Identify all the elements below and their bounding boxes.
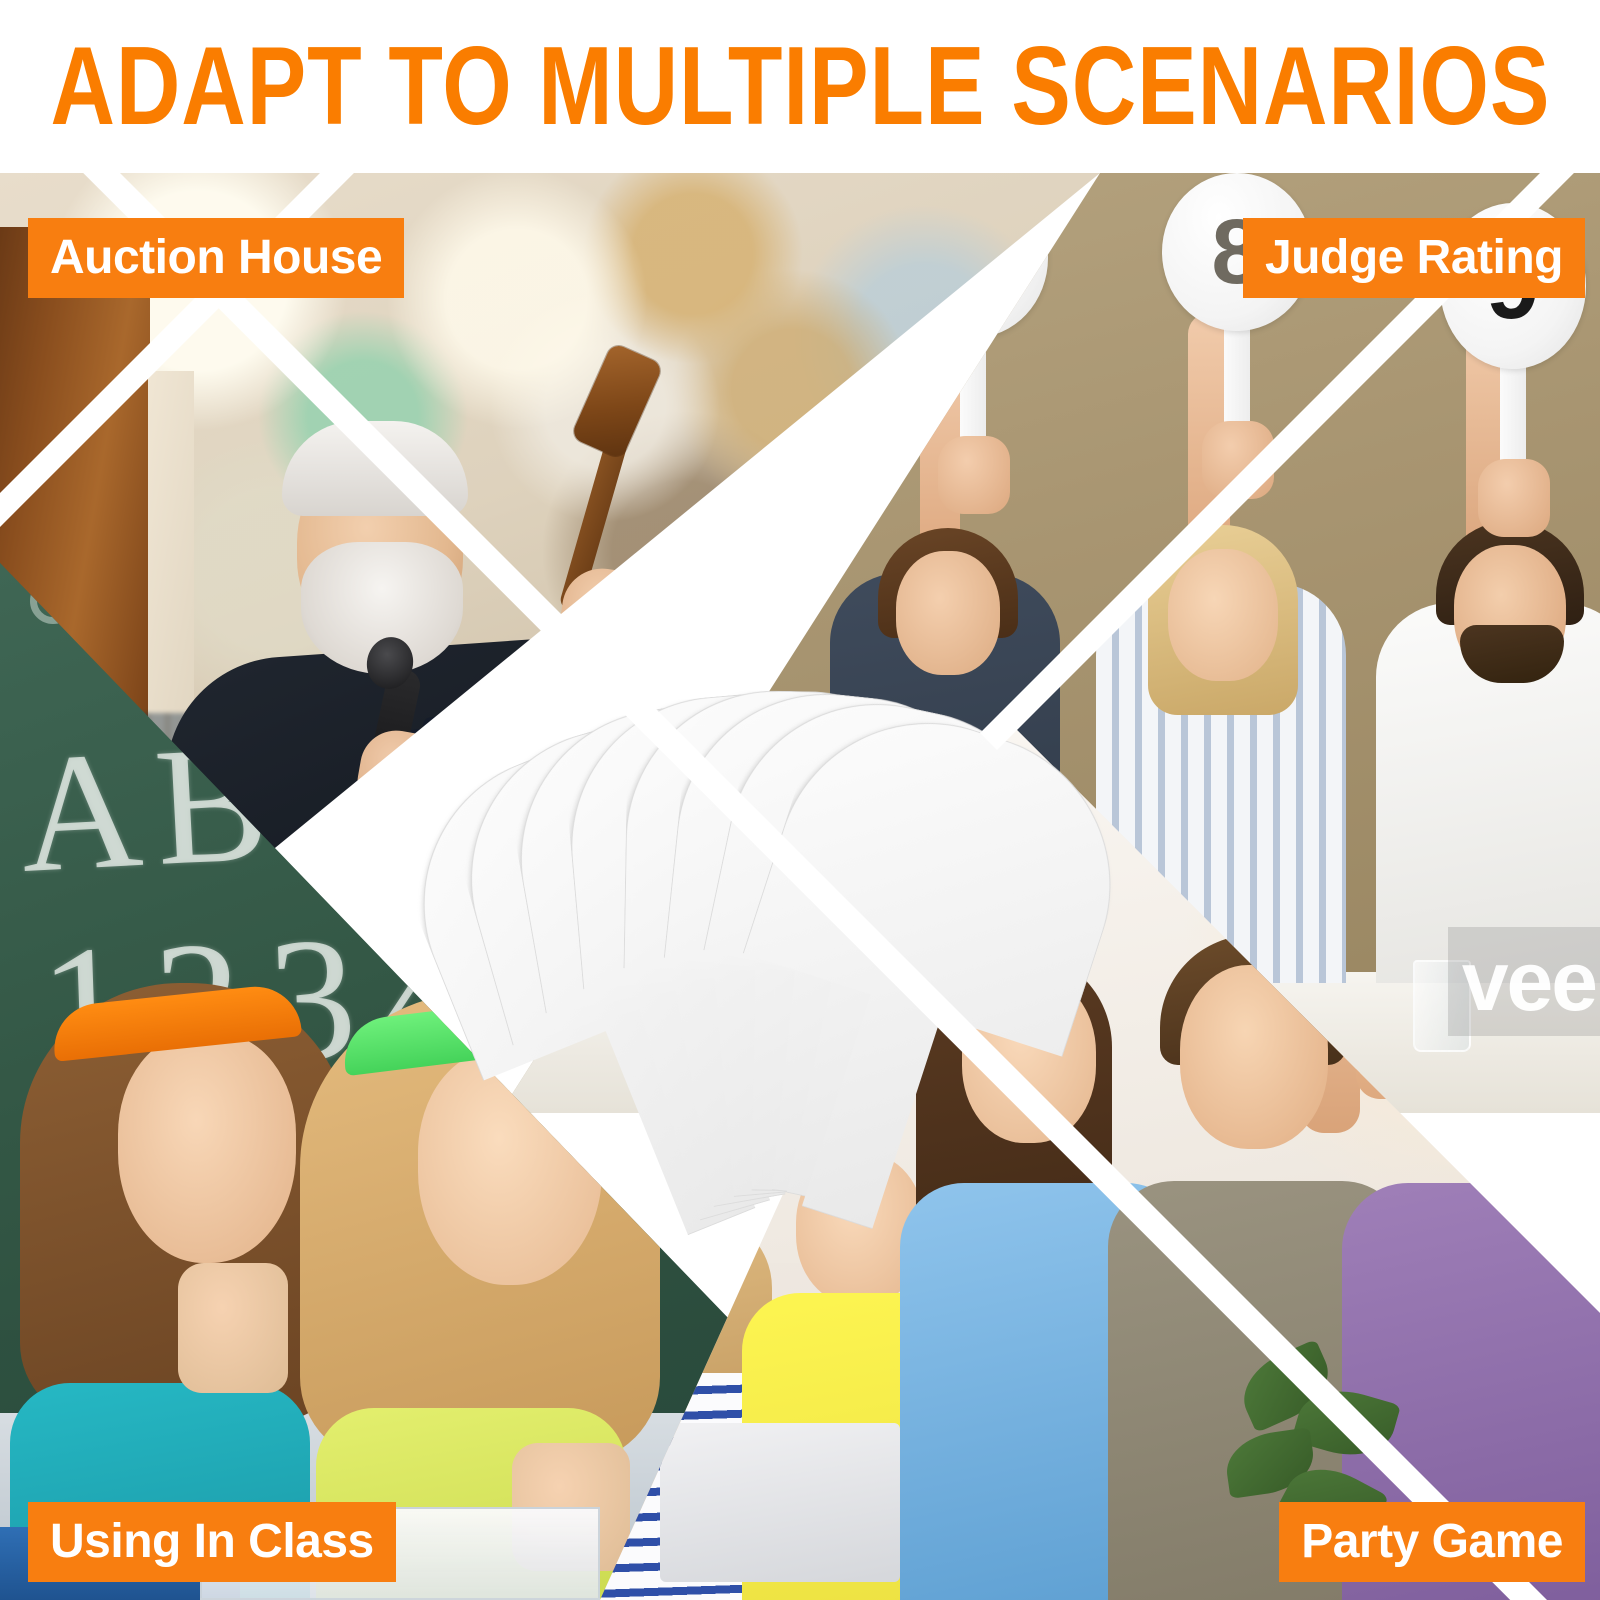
page-title: ADAPT TO MULTIPLE SCENARIOS [50, 31, 1550, 142]
product-feature-banner: ADAPT TO MULTIPLE SCENARIOS [0, 0, 1600, 1600]
judge-2-head [1168, 549, 1278, 681]
stock-photo-watermark: vee [1448, 927, 1600, 1036]
label-using-in-class: Using In Class [28, 1502, 396, 1582]
scenario-collage: 8 8 [0, 173, 1600, 1600]
paddle-1-hand [938, 436, 1010, 514]
label-party-game: Party Game [1279, 1502, 1585, 1582]
header-band: ADAPT TO MULTIPLE SCENARIOS [0, 0, 1600, 173]
label-judge-rating: Judge Rating [1243, 218, 1585, 298]
paddle-3-hand [1478, 459, 1550, 537]
gavel-head [570, 342, 663, 460]
laptop [660, 1423, 900, 1583]
girl-1-hand [178, 1263, 288, 1393]
product-paddle-stack [440, 643, 1140, 1303]
label-auction-house: Auction House [28, 218, 404, 298]
girl-1-face [118, 1033, 296, 1263]
